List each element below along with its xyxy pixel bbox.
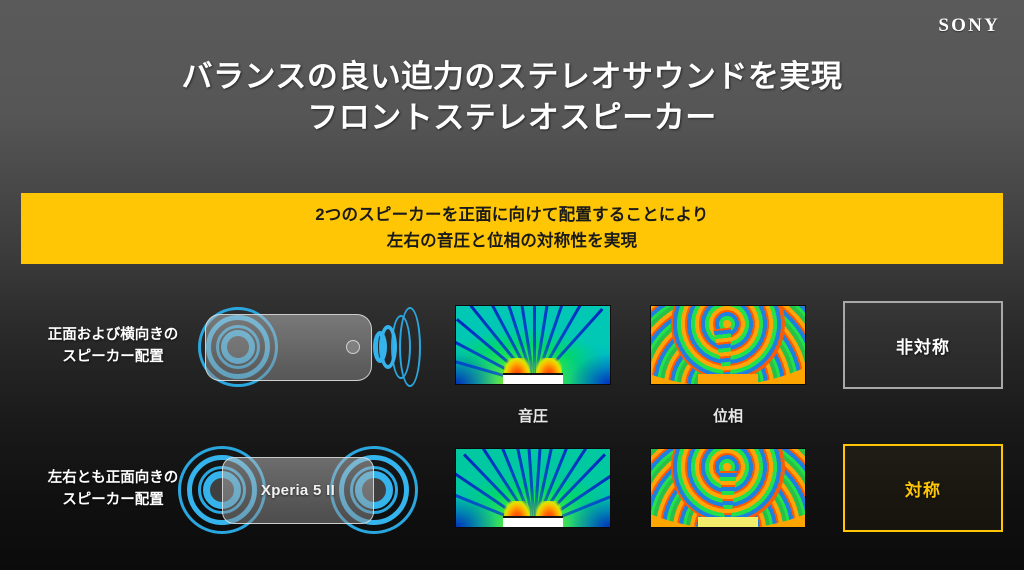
phone-sensor-dot xyxy=(346,340,360,354)
highlight-banner: 2つのスピーカーを正面に向けて配置することにより 左右の音圧と位相の対称性を実現 xyxy=(21,193,1003,264)
page-title-line-1: バランスの良い迫力のステレオサウンドを実現 xyxy=(182,59,843,94)
column-caption-sound-pressure: 音圧 xyxy=(455,405,611,426)
heatmap-sound-pressure-symmetric xyxy=(455,448,611,528)
side-speaker-rings-right xyxy=(365,307,417,387)
phone-diagram-symmetric: Xperia 5 II xyxy=(200,435,425,545)
highlight-banner-line-1: 2つのスピーカーを正面に向けて配置することにより xyxy=(315,206,708,224)
heatmap-column-captions: 音圧 位相 xyxy=(0,405,1024,431)
row-label-line-2: スピーカー配置 xyxy=(62,490,164,512)
phone-body-symmetric: Xperia 5 II xyxy=(222,457,374,524)
column-caption-phase: 位相 xyxy=(650,405,806,426)
row-label-line-2: スピーカー配置 xyxy=(62,347,164,369)
phone-diagram-asymmetric xyxy=(200,292,425,402)
comparison-row-asymmetric: 正面および横向きの スピーカー配置 xyxy=(0,292,1024,402)
row-label-line-1: 左右とも正面向きの xyxy=(48,468,179,490)
device-model-label: Xperia 5 II xyxy=(223,458,373,523)
status-badge-asymmetric: 非対称 xyxy=(843,301,1003,389)
page-title-line-2: フロントステレオスピーカー xyxy=(0,98,1024,139)
sony-logo: SONY xyxy=(938,15,1000,37)
heatmap-phase-symmetric xyxy=(650,448,806,528)
heatmap-phase-asymmetric xyxy=(650,305,806,385)
row-label-asymmetric: 正面および横向きの スピーカー配置 xyxy=(18,292,208,402)
status-badge-symmetric: 対称 xyxy=(843,444,1003,532)
slide-canvas: SONY バランスの良い迫力のステレオサウンドを実現 フロントステレオスピーカー… xyxy=(0,0,1024,570)
comparison-row-symmetric: 左右とも正面向きの スピーカー配置 Xpe xyxy=(0,435,1024,545)
row-label-line-1: 正面および横向きの xyxy=(48,325,179,347)
page-title: バランスの良い迫力のステレオサウンドを実現 フロントステレオスピーカー xyxy=(0,57,1024,139)
highlight-banner-text: 2つのスピーカーを正面に向けて配置することにより 左右の音圧と位相の対称性を実現 xyxy=(315,203,708,254)
heatmap-sound-pressure-asymmetric xyxy=(455,305,611,385)
highlight-banner-line-2: 左右の音圧と位相の対称性を実現 xyxy=(387,232,638,250)
